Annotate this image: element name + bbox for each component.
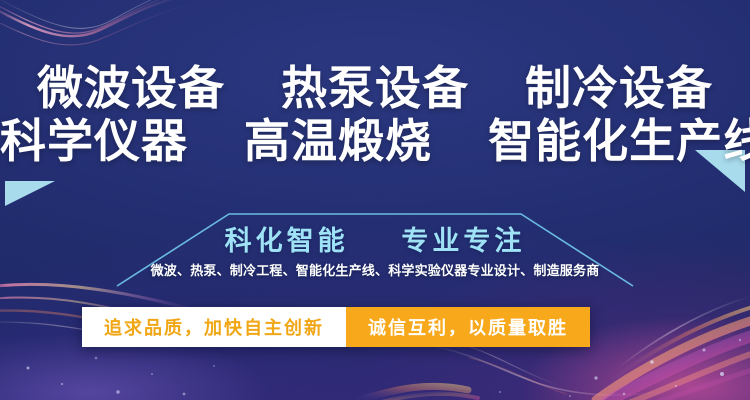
headline-item-3: 制冷设备 [525,61,713,115]
headline-line-2: 科学仪器 高温煅烧 智能化生产线 [0,115,750,168]
headline-line-1: 微波设备 热泵设备 制冷设备 [0,62,750,115]
headline-item-5: 高温煅烧 [244,114,432,168]
banner-slogan: 科化智能 专业专注 [0,225,750,259]
banner-pill-group: 追求品质，加快自主创新 诚信互利，以质量取胜 [82,307,590,347]
headline-item-1: 微波设备 [37,61,225,115]
promo-banner: 微波设备 热泵设备 制冷设备 科学仪器 高温煅烧 智能化生产线 科化智能 专业专… [0,0,750,400]
headline-item-4: 科学仪器 [0,114,188,168]
banner-subline: 微波、热泵、制冷工程、智能化生产线、科学实验仪器专业设计、制造服务商 [0,263,750,281]
banner-headline: 微波设备 热泵设备 制冷设备 科学仪器 高温煅烧 智能化生产线 [0,62,750,168]
slogan-right: 专业专注 [401,226,525,257]
pill-integrity[interactable]: 诚信互利，以质量取胜 [346,307,590,347]
headline-item-6: 智能化生产线 [488,114,750,168]
pill-quality[interactable]: 追求品质，加快自主创新 [82,307,346,347]
slogan-left: 科化智能 [225,226,349,257]
headline-item-2: 热泵设备 [281,61,469,115]
triangle-left-icon [5,181,55,206]
